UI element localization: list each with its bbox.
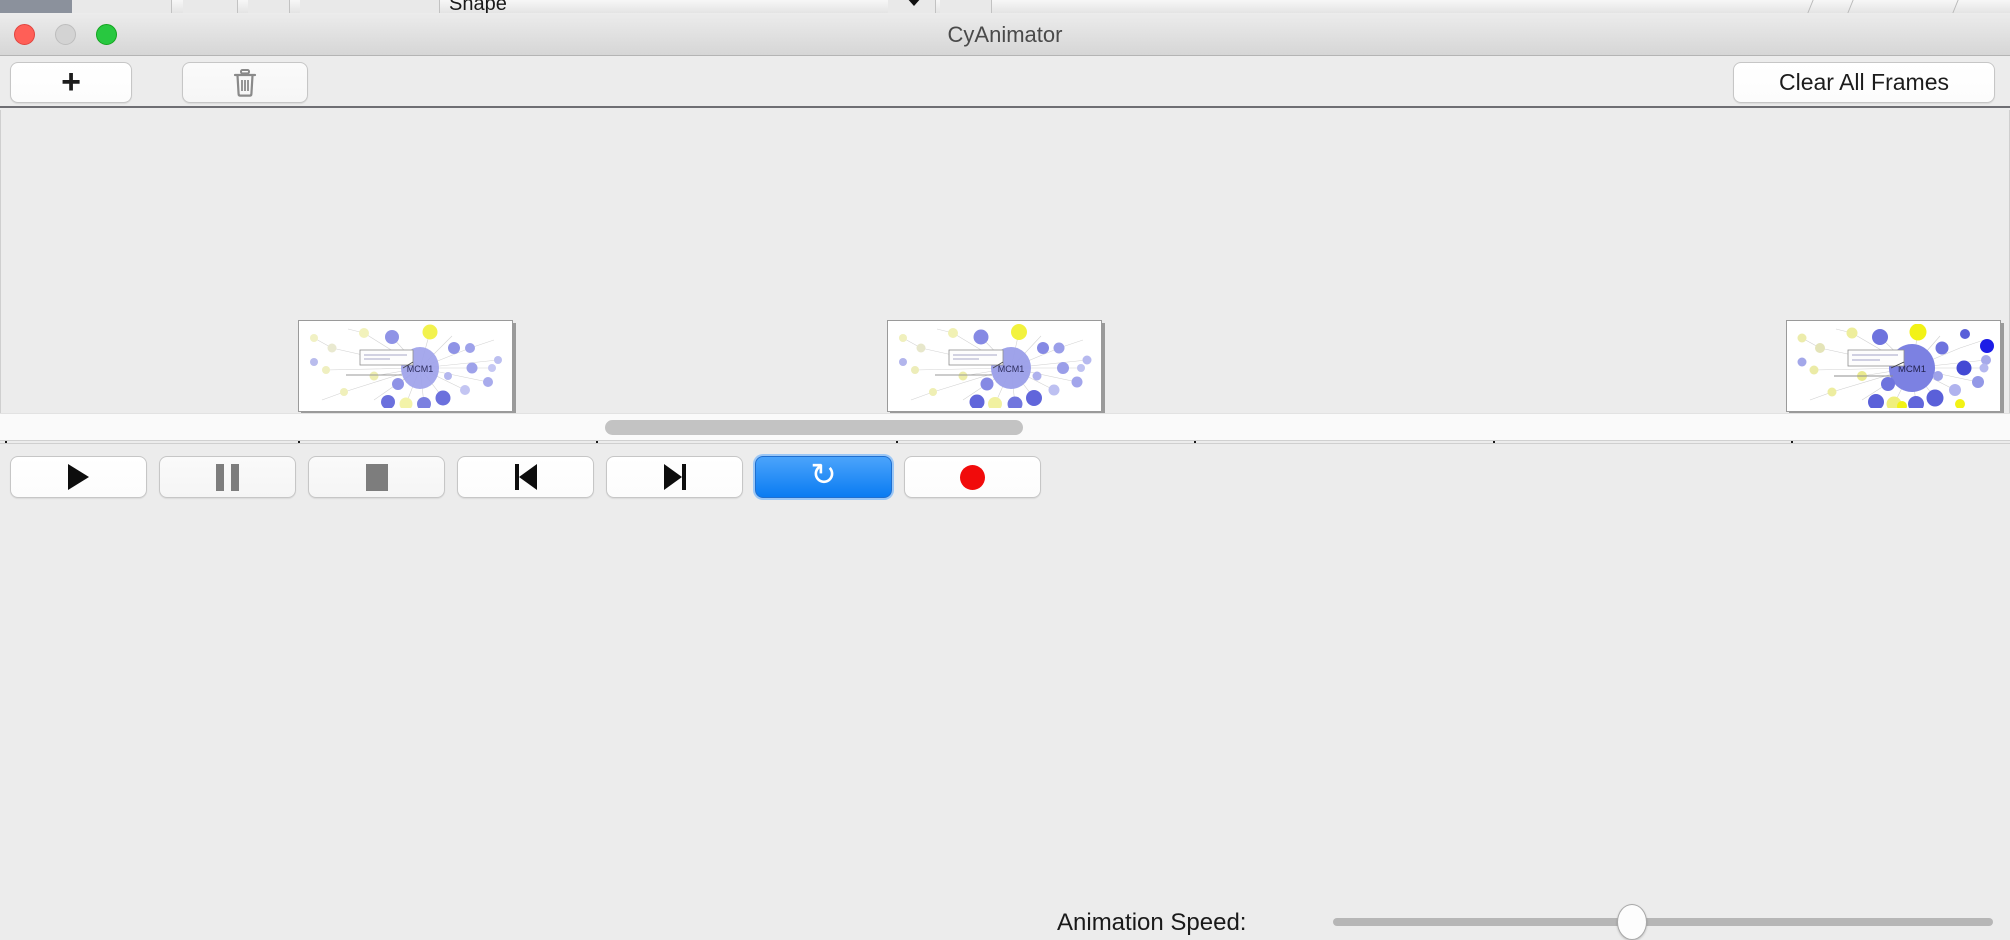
background-window-chip — [940, 0, 992, 13]
horizontal-scrollbar-thumb[interactable] — [605, 420, 1023, 435]
slider-track[interactable] — [1333, 918, 1993, 926]
background-window-chip — [72, 0, 172, 13]
stop-icon — [366, 464, 388, 491]
background-window-divider — [1847, 0, 1853, 13]
horizontal-scrollbar[interactable] — [0, 413, 2010, 441]
stop-button[interactable] — [308, 456, 445, 498]
background-window-chip — [183, 0, 238, 13]
skip-forward-icon — [664, 464, 686, 490]
frame-thumbnail[interactable]: MCM1 — [887, 320, 1102, 412]
network-thumbnail: MCM1 — [891, 324, 1098, 408]
delete-frame-button[interactable] — [182, 62, 308, 103]
network-thumbnail: MCM1 — [1790, 324, 1997, 408]
background-window-strip: Shape — [0, 0, 2010, 13]
network-graph-icon: MCM1 — [1790, 324, 1997, 408]
toolbar: + Clear All Frames — [0, 56, 2010, 108]
background-window-divider — [1952, 0, 1958, 13]
timeline-panel[interactable]: MCM1 — [0, 110, 2010, 413]
add-frame-button[interactable]: + — [10, 62, 132, 103]
background-window-cursor-icon — [906, 0, 922, 6]
network-graph-icon: MCM1 — [302, 324, 509, 408]
background-window-divider — [1807, 0, 1813, 13]
pause-button[interactable] — [159, 456, 296, 498]
skip-to-start-button[interactable] — [457, 456, 594, 498]
background-window-chip — [300, 0, 440, 13]
clear-all-frames-label: Clear All Frames — [1779, 69, 1949, 96]
animation-speed-label: Animation Speed: — [1057, 909, 1246, 937]
frame-thumbnail[interactable]: MCM1 — [298, 320, 513, 412]
play-icon — [68, 464, 89, 490]
skip-to-end-button[interactable] — [606, 456, 743, 498]
network-thumbnail: MCM1 — [302, 324, 509, 408]
background-window-chip — [248, 0, 290, 13]
animation-speed-slider[interactable] — [1333, 918, 1993, 926]
skip-back-icon — [515, 464, 537, 490]
background-window-titlebar — [0, 0, 72, 13]
network-graph-icon: MCM1 — [891, 324, 1098, 408]
frame-thumbnail[interactable]: MCM1 — [1786, 320, 2001, 412]
loop-icon: ↻ — [811, 460, 837, 491]
record-icon — [960, 465, 985, 490]
svg-text:MCM1: MCM1 — [998, 364, 1025, 374]
slider-thumb[interactable] — [1617, 904, 1647, 940]
svg-text:MCM1: MCM1 — [407, 364, 434, 374]
window-titlebar: CyAnimator — [0, 13, 2010, 56]
record-button[interactable] — [904, 456, 1041, 498]
background-window-label: Shape — [449, 0, 507, 13]
play-button[interactable] — [10, 456, 147, 498]
trash-icon — [232, 68, 258, 98]
transport-bar: ↻ Animation Speed: — [0, 443, 2010, 510]
window-title: CyAnimator — [0, 13, 2010, 56]
loop-button[interactable]: ↻ — [755, 456, 892, 498]
pause-icon — [216, 464, 239, 491]
clear-all-frames-button[interactable]: Clear All Frames — [1733, 62, 1995, 103]
